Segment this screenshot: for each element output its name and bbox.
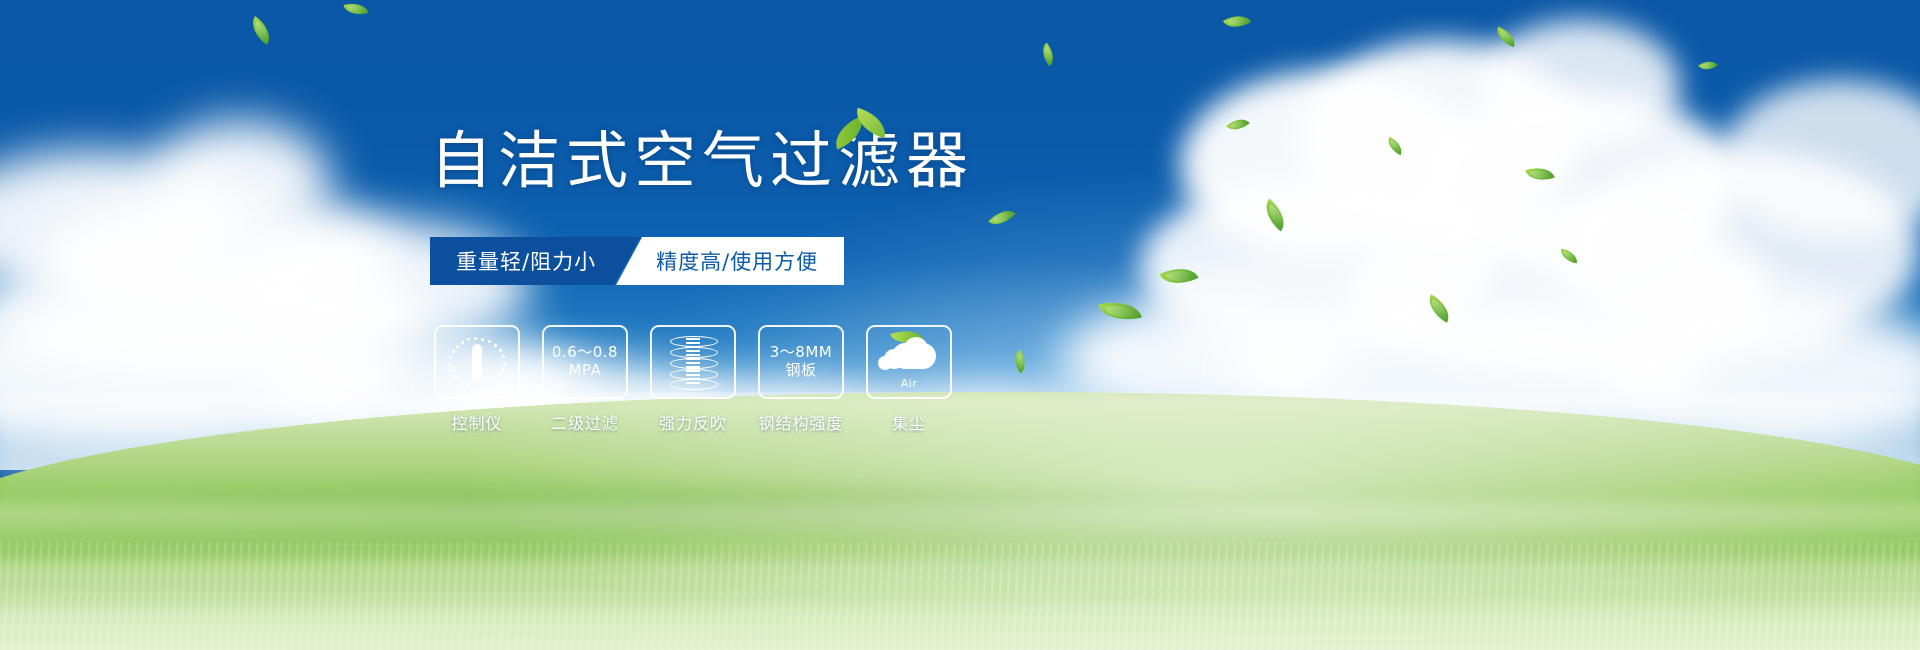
feature-item-steel-strength[interactable]: 3～8MM 钢板 钢结构强度 bbox=[760, 325, 842, 434]
product-banner: 自洁式空气过滤器 重量轻/阻力小 精度高/使用方便 NO OFF bbox=[0, 0, 1920, 650]
feature-icon-box: 3～8MM 钢板 bbox=[758, 325, 844, 399]
feature-caption: 强力反吹 bbox=[659, 410, 727, 434]
feature-caption: 控制仪 bbox=[451, 410, 502, 434]
feature-icon-box: 0.6～0.8 MPA bbox=[542, 325, 628, 399]
feature-item-back-blow[interactable]: 强力反吹 bbox=[652, 325, 734, 434]
feature-tabs: 重量轻/阻力小 精度高/使用方便 bbox=[430, 237, 844, 285]
gauge-icon: NO OFF bbox=[448, 336, 506, 388]
gauge-label-off: OFF bbox=[494, 381, 508, 387]
air-cloud-icon: Air bbox=[878, 337, 940, 387]
tab-weight-resistance[interactable]: 重量轻/阻力小 bbox=[430, 237, 640, 285]
feature-box-text: 3～8MM 钢板 bbox=[770, 344, 832, 379]
feature-caption: 二级过滤 bbox=[551, 410, 619, 434]
feature-list: NO OFF bbox=[436, 325, 950, 434]
page-title: 自洁式空气过滤器 bbox=[430, 130, 974, 192]
coil-icon bbox=[670, 336, 716, 388]
feature-item-two-stage-filter[interactable]: 0.6～0.8 MPA 二级过滤 bbox=[544, 325, 626, 434]
feature-item-dust-collection[interactable]: Air 集尘 bbox=[868, 325, 950, 434]
feature-icon-box bbox=[650, 325, 736, 399]
feature-caption: 集尘 bbox=[892, 410, 926, 434]
feature-box-text: 0.6～0.8 MPA bbox=[552, 344, 618, 379]
feature-caption: 钢结构强度 bbox=[759, 410, 844, 434]
feature-icon-box: NO OFF bbox=[434, 325, 520, 399]
air-label: Air bbox=[878, 377, 940, 390]
title-leaf-icon bbox=[832, 112, 890, 148]
tab-precision-convenience[interactable]: 精度高/使用方便 bbox=[616, 237, 844, 285]
feature-item-controller[interactable]: NO OFF bbox=[436, 325, 518, 434]
feature-icon-box: Air bbox=[866, 325, 952, 399]
banner-content: 自洁式空气过滤器 重量轻/阻力小 精度高/使用方便 NO OFF bbox=[0, 0, 1920, 650]
